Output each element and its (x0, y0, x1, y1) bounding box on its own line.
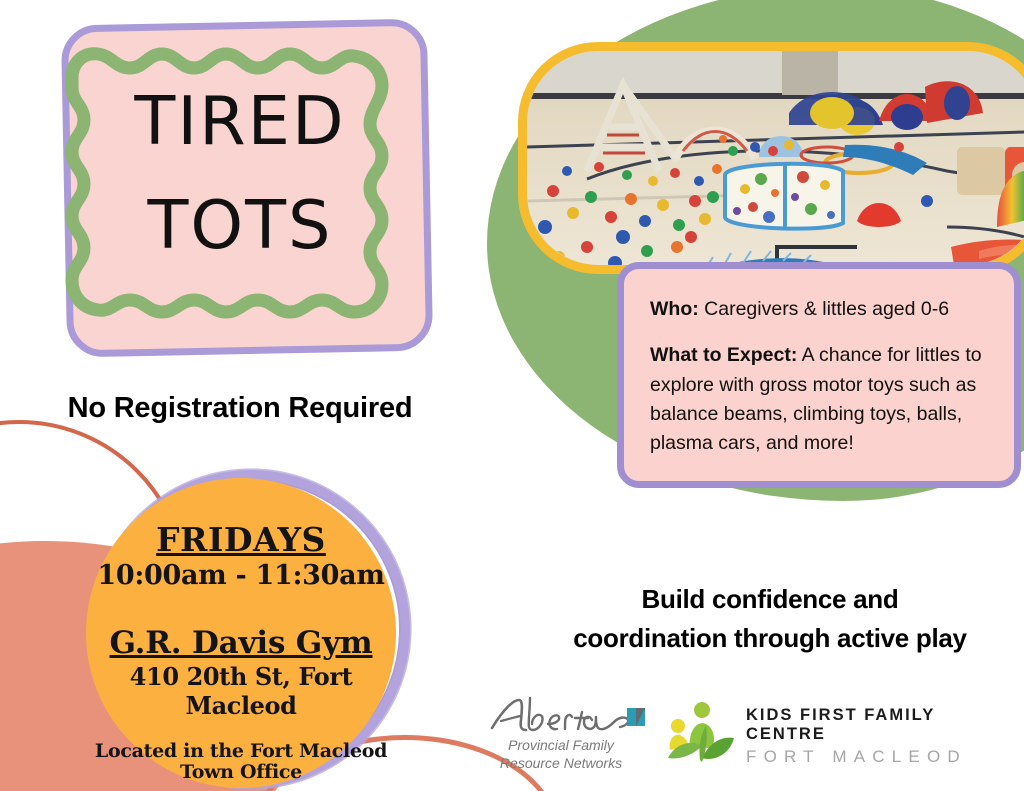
schedule-day: FRIDAYS (80, 520, 402, 559)
alberta-sub-line-2: Resource Networks (500, 755, 622, 771)
schedule-note: Located in the Fort Macleod Town Office (80, 741, 402, 784)
schedule-venue: G.R. Davis Gym (80, 625, 402, 661)
schedule-time: 10:00am - 11:30am (80, 560, 402, 591)
alberta-sub-line-1: Provincial Family (508, 737, 614, 753)
tagline: Build confidence and coordination throug… (520, 580, 1020, 658)
no-registration-text: No Registration Required (0, 392, 480, 425)
tagline-line-1: Build confidence and (642, 584, 899, 614)
title-line-1: TIRED (70, 70, 410, 174)
alberta-subtitle: Provincial Family Resource Networks (486, 736, 636, 773)
activity-photo (527, 51, 1024, 265)
title-card: TIRED TOTS (56, 22, 426, 352)
info-who-line: Who: Caregivers & littles aged 0-6 (650, 295, 992, 324)
poster-canvas: TIRED TOTS No Registration Required FRID… (0, 0, 1024, 791)
alberta-wordmark-icon (486, 694, 646, 740)
tagline-line-2: coordination through active play (573, 623, 966, 653)
kids-first-line-1: KIDS FIRST FAMILY CENTRE (746, 706, 1014, 744)
schedule-block: FRIDAYS 10:00am - 11:30am G.R. Davis Gym… (80, 520, 402, 784)
kids-first-wordmark: KIDS FIRST FAMILY CENTRE FORT MACLEOD (746, 706, 1014, 767)
poster-title: TIRED TOTS (70, 70, 410, 278)
activity-photo-frame (518, 42, 1024, 274)
info-expect-line: What to Expect: A chance for littles to … (650, 341, 992, 458)
info-expect-label: What to Expect: (650, 344, 797, 366)
schedule-note-line-1: Located in the Fort Macleod (95, 740, 387, 762)
kids-first-line-2: FORT MACLEOD (746, 747, 1014, 767)
alberta-logo: Provincial Family Resource Networks (486, 694, 646, 784)
info-box: Who: Caregivers & littles aged 0-6 What … (617, 262, 1021, 488)
schedule-address: 410 20th St, Fort Macleod (80, 662, 402, 720)
kids-first-plant-people-icon (664, 698, 738, 764)
gym-play-scene-image (527, 51, 1024, 265)
info-who-label: Who: (650, 298, 699, 320)
kids-first-logo: KIDS FIRST FAMILY CENTRE FORT MACLEOD (664, 696, 1014, 770)
info-who-text: Caregivers & littles aged 0-6 (699, 298, 949, 320)
title-line-2: TOTS (70, 174, 410, 278)
schedule-note-line-2: Town Office (180, 761, 302, 783)
